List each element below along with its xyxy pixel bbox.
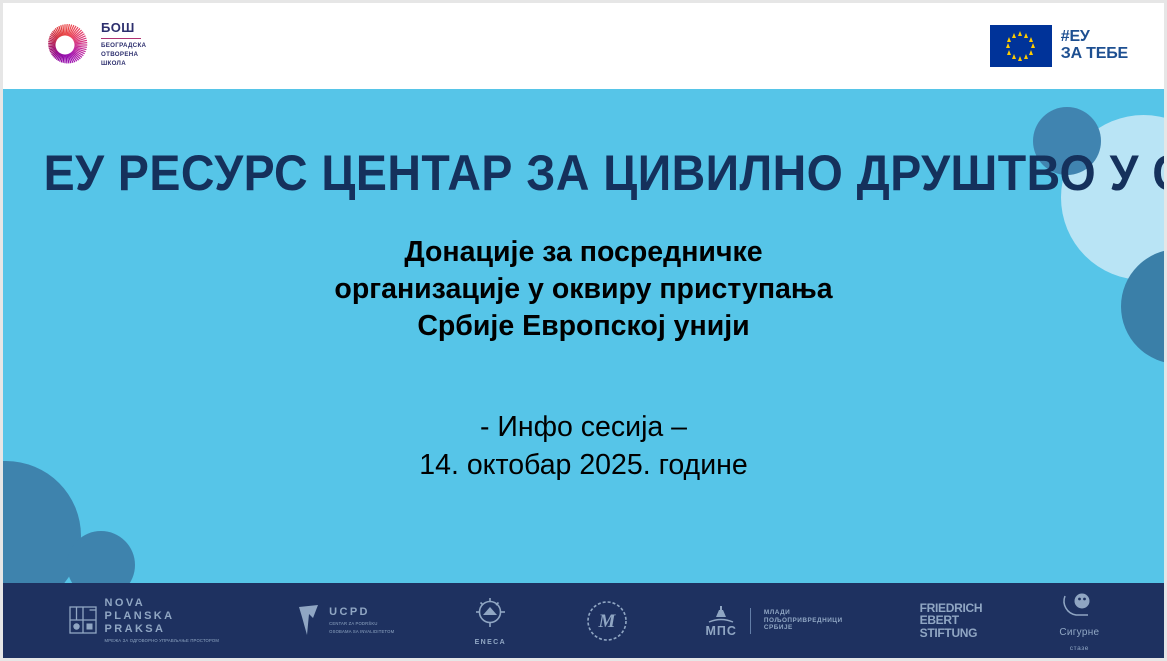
page-title: ЕУ РЕСУРС ЦЕНТАР ЗА ЦИВИЛНО ДРУШТВО У СР… <box>44 144 1124 202</box>
partner-logo-nova-planska-praksa: NOVA PLANSKA PRAKSA МРЕЖА ЗА ОДГОВОРНО У… <box>68 597 220 644</box>
eu-slogan: #ЕУ ЗА ТЕБЕ <box>1061 29 1128 63</box>
slide-subtitle: Донације за посредничке организације у о… <box>3 234 1164 344</box>
ucpd-text: UCPD CENTAR ZA PODRŠKU OSOBAMA SA INVALI… <box>329 606 394 635</box>
sigurne-staze-line-1: Сигурне <box>1059 627 1099 638</box>
npp-tagline: МРЕЖА ЗА ОДГОВОРНО УПРАВЉАЊЕ ПРОСТОРОМ <box>105 639 220 644</box>
svg-text:M: M <box>598 611 617 632</box>
session-date: 14. октобар 2025. године <box>3 447 1164 485</box>
presentation-slide: БОШ БЕОГРАДСКА ОТВОРЕНА ШКОЛА #ЕУ ЗА ТЕБ… <box>0 0 1167 661</box>
partner-logo-mis: M <box>586 600 628 642</box>
partner-logo-bar: NOVA PLANSKA PRAKSA МРЕЖА ЗА ОДГОВОРНО У… <box>3 583 1164 658</box>
sigurne-staze-line-2: стазе <box>1070 645 1089 652</box>
sunburst-ring-icon <box>39 19 91 71</box>
mps-emblem-icon: МПС <box>705 604 736 638</box>
eu-logo: #ЕУ ЗА ТЕБЕ <box>990 25 1128 67</box>
mps-divider <box>750 608 751 634</box>
mps-acronym: МПС <box>705 624 736 638</box>
bos-fullname-line2: ОТВОРЕНА <box>101 51 146 60</box>
npp-line-2: PLANSKA <box>105 610 220 623</box>
fes-line-2: EBERT <box>920 614 983 626</box>
ucpd-sub-1: CENTAR ZA PODRŠKU <box>329 622 394 627</box>
ucpd-banner-icon <box>296 604 322 638</box>
bos-logo: БОШ БЕОГРАДСКА ОТВОРЕНА ШКОЛА <box>39 19 146 71</box>
bos-acronym: БОШ <box>101 21 146 34</box>
grid-square-icon <box>68 605 98 635</box>
hand-face-circle-icon <box>1060 590 1098 620</box>
eu-slogan-line2: ЗА ТЕБЕ <box>1061 46 1128 63</box>
bos-fullname-line1: БЕОГРАДСКА <box>101 42 146 51</box>
session-type: - Инфо сесија – <box>3 409 1164 447</box>
partner-logo-mladi-poljoprivrednici: МПС МЛАДИ ПОЉОПРИВРЕДНИЦИ СРБИЈЕ <box>705 604 842 638</box>
ucpd-sub-2: OSOBAMA SA INVALIDITETOM <box>329 630 394 635</box>
partner-logo-sigurne-staze: Сигурне стазе <box>1059 590 1099 652</box>
partner-logo-friedrich-ebert-stiftung: FRIEDRICH EBERT STIFTUNG <box>920 602 983 639</box>
mps-fullname: МЛАДИ ПОЉОПРИВРЕДНИЦИ СРБИЈЕ <box>764 609 843 632</box>
subtitle-line-2: организације у оквиру приступања <box>3 271 1164 308</box>
subtitle-line-1: Донације за посредничке <box>3 234 1164 271</box>
npp-line-1: NOVA <box>105 597 220 610</box>
eneca-compass-icon <box>471 596 509 630</box>
slide-body: ЕУ РЕСУРС ЦЕНТАР ЗА ЦИВИЛНО ДРУШТВО У СР… <box>3 89 1164 589</box>
bos-fullname: БЕОГРАДСКА ОТВОРЕНА ШКОЛА <box>101 42 146 69</box>
eu-flag-icon <box>990 25 1052 67</box>
bos-fullname-line3: ШКОЛА <box>101 60 146 69</box>
slide-header: БОШ БЕОГРАДСКА ОТВОРЕНА ШКОЛА #ЕУ ЗА ТЕБ… <box>3 3 1164 89</box>
subtitle-line-3: Србије Европској унији <box>3 308 1164 345</box>
circle-monogram-icon: M <box>586 600 628 642</box>
partner-logo-eneca: ENECA <box>471 596 509 646</box>
mps-line-2: ПОЉОПРИВРЕДНИЦИ <box>764 617 843 625</box>
mps-line-1: МЛАДИ <box>764 609 843 617</box>
ucpd-label: UCPD <box>329 606 394 619</box>
bos-logo-text: БОШ БЕОГРАДСКА ОТВОРЕНА ШКОЛА <box>101 21 146 69</box>
eneca-label: ENECA <box>475 639 507 646</box>
nova-planska-praksa-text: NOVA PLANSKA PRAKSA МРЕЖА ЗА ОДГОВОРНО У… <box>105 597 220 644</box>
session-info: - Инфо сесија – 14. октобар 2025. године <box>3 409 1164 485</box>
fes-text: FRIEDRICH EBERT STIFTUNG <box>920 602 983 639</box>
bos-divider <box>101 38 141 39</box>
npp-line-3: PRAKSA <box>105 623 220 636</box>
decorative-circle-bottom-left-small <box>67 531 135 589</box>
fes-line-3: STIFTUNG <box>920 627 983 639</box>
eu-slogan-line1: #ЕУ <box>1061 29 1128 46</box>
partner-logo-ucpd: UCPD CENTAR ZA PODRŠKU OSOBAMA SA INVALI… <box>296 604 394 638</box>
mps-line-3: СРБИЈЕ <box>764 624 843 632</box>
